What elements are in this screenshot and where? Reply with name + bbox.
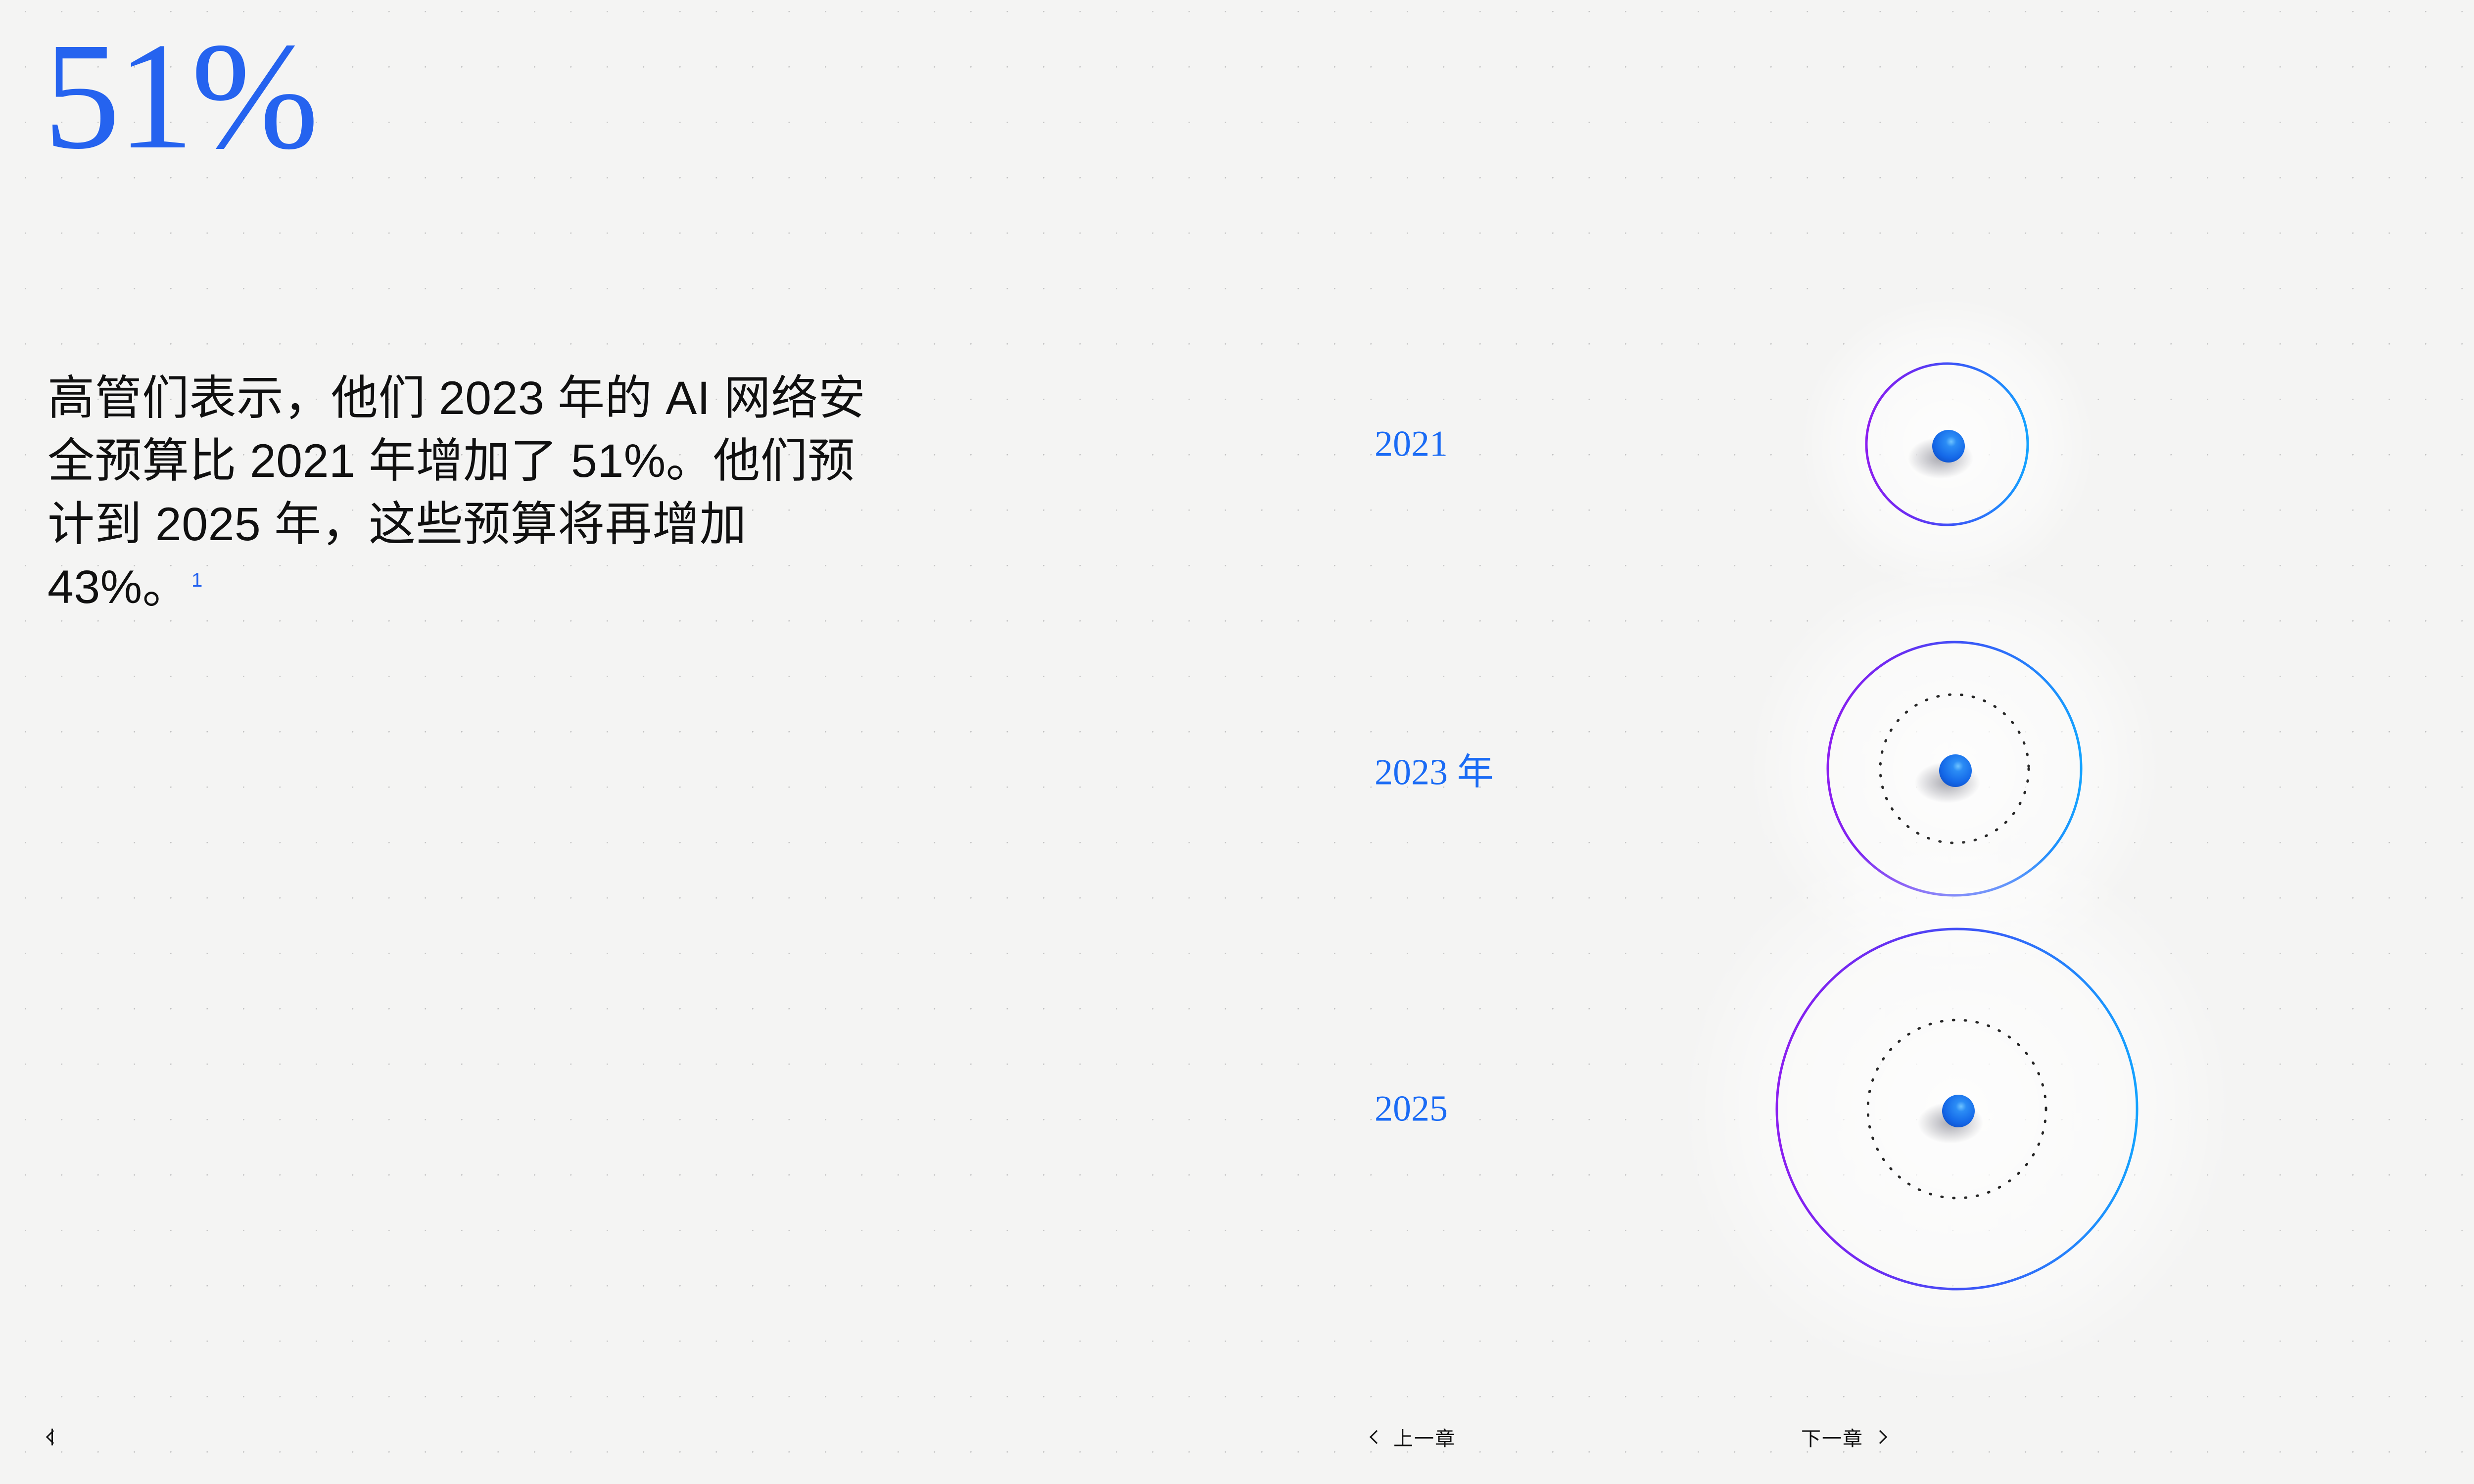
bubble-group-2025 [1434,832,2234,1386]
next-chapter-label: 下一章 [1801,1423,1863,1451]
bubble-dot-2025 [1942,1095,1975,1127]
chevron-left-icon [1371,1429,1380,1445]
bubble-group-2021 [1434,296,2095,593]
bubble-dot-2023 [1939,754,1972,787]
skip-to-start-icon [51,1429,57,1445]
slide-canvas: 51% 高管们表示，他们 2023 年的 AI 网络安全预算比 2021 年增加… [0,0,2474,1484]
chevron-right-icon [1876,1429,1886,1445]
bubble-dot-2021 [1932,430,1965,463]
next-chapter-button[interactable]: 下一章 [1801,1423,1886,1451]
bubble-label-2021: 2021 [1375,423,1448,465]
footnote-marker: 1 [191,569,203,591]
previous-chapter-label: 上一章 [1393,1423,1456,1451]
footer-navigation: 上一章 下一章 8 [0,1390,2474,1484]
body-paragraph: 高管们表示，他们 2023 年的 AI 网络安全预算比 2021 年增加了 51… [48,367,889,619]
bubble-chart: 2021 2023 年 2025 [1311,307,2251,1355]
previous-chapter-button[interactable]: 上一章 [1371,1423,1456,1451]
go-to-first-page-button[interactable] [51,1429,70,1445]
page-stat-number: 51% [44,20,316,173]
body-text: 高管们表示，他们 2023 年的 AI 网络安全预算比 2021 年增加了 51… [48,372,865,613]
bubble-label-2023: 2023 年 [1375,742,1494,795]
bubble-label-2025: 2025 [1375,1088,1448,1130]
